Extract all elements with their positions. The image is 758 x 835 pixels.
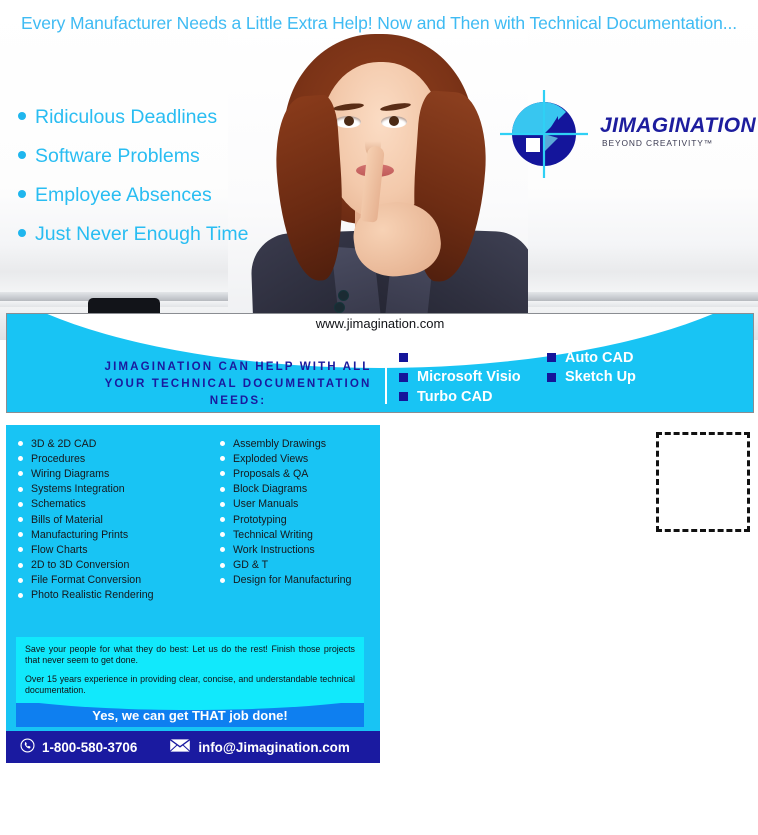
email-contact[interactable]: info@Jimagination.com xyxy=(169,738,349,756)
service-item: Procedures xyxy=(18,451,154,466)
service-label: Block Diagrams xyxy=(233,483,307,495)
square-bullet-icon xyxy=(547,373,556,382)
service-item: Flow Charts xyxy=(18,542,154,557)
software-item: Auto CAD xyxy=(547,348,695,368)
website-url[interactable]: www.jimagination.com xyxy=(7,316,753,331)
square-bullet-icon xyxy=(547,353,556,362)
software-item: Sketch Up xyxy=(547,368,695,388)
software-item-empty xyxy=(547,387,695,407)
square-bullet-icon xyxy=(399,373,408,382)
service-label: Assembly Drawings xyxy=(233,438,326,450)
image-placeholder-box xyxy=(656,432,750,532)
logo-tagline: BEYOND CREATIVITY™ xyxy=(602,138,713,148)
banner-divider xyxy=(385,346,387,404)
service-item: Technical Writing xyxy=(220,527,351,542)
service-label: GD & T xyxy=(233,559,268,571)
bullet-icon xyxy=(18,456,23,461)
phone-number: 1-800-580-3706 xyxy=(42,740,137,755)
software-label: Turbo CAD xyxy=(417,389,492,405)
blurb-paragraph-1: Save your people for what they do best: … xyxy=(25,644,355,667)
service-label: Manufacturing Prints xyxy=(31,529,128,541)
bullet-icon xyxy=(220,563,225,568)
bullet-icon xyxy=(220,456,225,461)
pain-point-item: Employee Absences xyxy=(18,182,249,208)
bullet-icon xyxy=(18,441,23,446)
service-item: Manufacturing Prints xyxy=(18,527,154,542)
service-item: Prototyping xyxy=(220,512,351,527)
value-proposition-box: Save your people for what they do best: … xyxy=(16,637,364,703)
software-label: Solid Works xyxy=(417,350,501,366)
jimagination-circle-crosshair-logo xyxy=(496,86,592,182)
service-item: File Format Conversion xyxy=(18,573,154,588)
software-label: Microsoft Visio xyxy=(417,369,521,385)
service-label: Prototyping xyxy=(233,514,287,526)
bullet-icon xyxy=(18,578,23,583)
bullet-icon xyxy=(220,578,225,583)
envelope-icon xyxy=(169,738,191,756)
services-banner: www.jimagination.com JIMAGINATION CAN HE… xyxy=(6,313,754,413)
service-label: Wiring Diagrams xyxy=(31,468,109,480)
bullet-icon xyxy=(220,487,225,492)
service-label: 2D to 3D Conversion xyxy=(31,559,129,571)
bullet-icon xyxy=(18,229,26,237)
email-address: info@Jimagination.com xyxy=(198,740,349,755)
service-item: Exploded Views xyxy=(220,451,351,466)
pain-point-item: Software Problems xyxy=(18,143,249,169)
bullet-icon xyxy=(18,471,23,476)
service-label: Work Instructions xyxy=(233,544,315,556)
banner-headline: JIMAGINATION CAN HELP WITH ALL YOUR TECH… xyxy=(99,358,377,409)
bullet-icon xyxy=(18,190,26,198)
software-label: Auto CAD xyxy=(565,350,633,366)
service-label: Systems Integration xyxy=(31,483,125,495)
pupil-right xyxy=(389,116,399,126)
service-label: Flow Charts xyxy=(31,544,88,556)
software-list: Solid Works Auto CAD Microsoft Visio Ske… xyxy=(399,348,695,407)
service-item: Block Diagrams xyxy=(220,482,351,497)
pain-point-label: Just Never Enough Time xyxy=(35,223,249,246)
square-bullet-icon xyxy=(399,392,408,401)
blurb-paragraph-2: Over 15 years experience in providing cl… xyxy=(25,674,355,697)
pain-point-item: Just Never Enough Time xyxy=(18,221,249,247)
service-label: Technical Writing xyxy=(233,529,313,541)
cta-banner: Yes, we can get THAT job done! xyxy=(16,703,364,727)
software-item: Turbo CAD xyxy=(399,387,547,407)
service-item: Work Instructions xyxy=(220,542,351,557)
software-label: Sketch Up xyxy=(565,369,636,385)
service-item: Design for Manufacturing xyxy=(220,573,351,588)
service-label: Bills of Material xyxy=(31,514,103,526)
pain-point-label: Software Problems xyxy=(35,145,200,168)
bullet-icon xyxy=(18,547,23,552)
service-label: Proposals & QA xyxy=(233,468,308,480)
bullet-icon xyxy=(18,532,23,537)
service-item: 2D to 3D Conversion xyxy=(18,558,154,573)
service-label: Design for Manufacturing xyxy=(233,574,351,586)
bullet-icon xyxy=(18,517,23,522)
service-item: Bills of Material xyxy=(18,512,154,527)
service-label: Schematics xyxy=(31,498,86,510)
service-label: Exploded Views xyxy=(233,453,308,465)
company-logo[interactable]: JIMAGINATION BEYOND CREATIVITY™ xyxy=(496,86,746,186)
service-item: Wiring Diagrams xyxy=(18,466,154,481)
bullet-icon xyxy=(220,441,225,446)
service-item: Systems Integration xyxy=(18,482,154,497)
service-label: File Format Conversion xyxy=(31,574,141,586)
service-label: User Manuals xyxy=(233,498,298,510)
cta-label: Yes, we can get THAT job done! xyxy=(16,703,364,727)
service-label: Procedures xyxy=(31,453,85,465)
service-item: Assembly Drawings xyxy=(220,436,351,451)
bullet-icon xyxy=(18,502,23,507)
bullet-icon xyxy=(220,502,225,507)
businesswoman-photo xyxy=(228,26,528,316)
bullet-icon xyxy=(18,593,23,598)
service-item: Proposals & QA xyxy=(220,466,351,481)
hero-section: Every Manufacturer Needs a Little Extra … xyxy=(0,0,758,340)
bullet-icon xyxy=(18,563,23,568)
pupil-left xyxy=(344,116,354,126)
pain-point-list: Ridiculous Deadlines Software Problems E… xyxy=(18,104,249,260)
phone-icon xyxy=(20,738,35,756)
bullet-icon xyxy=(220,517,225,522)
software-item: Microsoft Visio xyxy=(399,368,547,388)
services-column-left: 3D & 2D CAD Procedures Wiring Diagrams S… xyxy=(18,436,154,603)
page-headline: Every Manufacturer Needs a Little Extra … xyxy=(0,13,758,34)
pain-point-item: Ridiculous Deadlines xyxy=(18,104,249,130)
pain-point-label: Ridiculous Deadlines xyxy=(35,106,217,129)
phone-contact[interactable]: 1-800-580-3706 xyxy=(20,738,137,756)
bullet-icon xyxy=(220,471,225,476)
service-item: GD & T xyxy=(220,558,351,573)
jacket-button xyxy=(334,302,345,313)
bullet-icon xyxy=(18,487,23,492)
jacket-button xyxy=(338,290,349,301)
logo-wordmark: JIMAGINATION xyxy=(600,114,756,138)
bullet-icon xyxy=(18,112,26,120)
service-item: Schematics xyxy=(18,497,154,512)
bullet-icon xyxy=(220,547,225,552)
service-item: User Manuals xyxy=(220,497,351,512)
services-column-right: Assembly Drawings Exploded Views Proposa… xyxy=(220,436,351,588)
software-item: Solid Works xyxy=(399,348,547,368)
contact-footer: 1-800-580-3706 info@Jimagination.com xyxy=(6,731,380,763)
pain-point-label: Employee Absences xyxy=(35,184,212,207)
service-label: Photo Realistic Rendering xyxy=(31,589,154,601)
bullet-icon xyxy=(220,532,225,537)
service-item: Photo Realistic Rendering xyxy=(18,588,154,603)
bullet-icon xyxy=(18,151,26,159)
service-item: 3D & 2D CAD xyxy=(18,436,154,451)
square-bullet-icon xyxy=(399,353,408,362)
service-label: 3D & 2D CAD xyxy=(31,438,96,450)
